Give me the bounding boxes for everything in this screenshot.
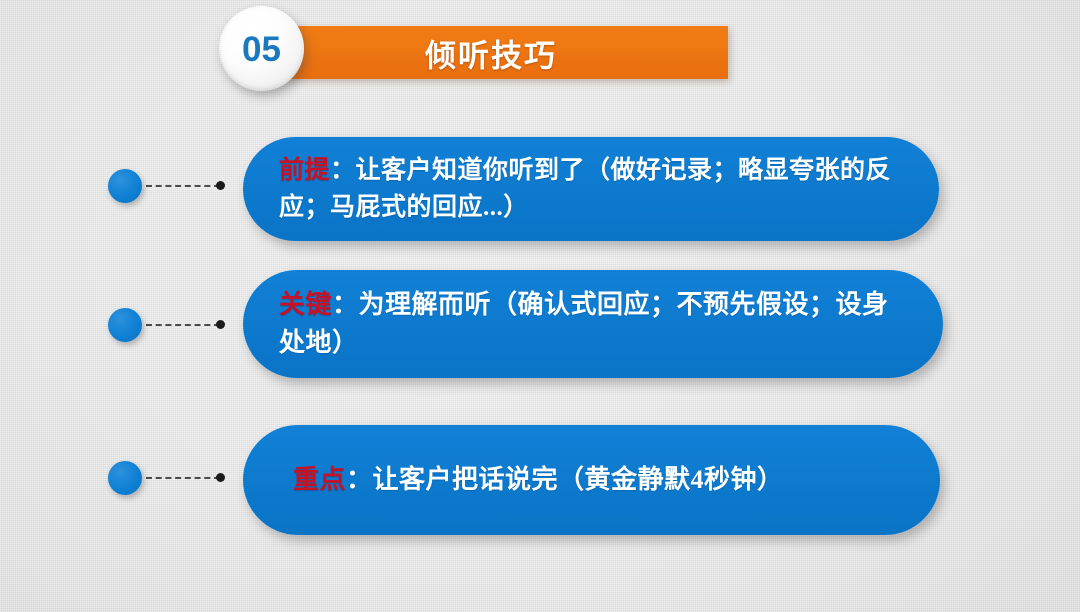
connector-node-icon xyxy=(216,181,225,190)
connector-dashed-line xyxy=(146,185,220,187)
connector-dashed-line xyxy=(146,324,220,326)
connector-dashed-line xyxy=(146,477,220,479)
content-pill-lead: 前提 xyxy=(279,157,330,184)
section-title-text: 倾听技巧 xyxy=(258,30,728,75)
content-pill: 重点：让客户把话说完（黄金静默4秒钟） xyxy=(243,425,940,535)
content-pill-body: ：为理解而听（确认式回应；不预先假设；设身处地） xyxy=(279,290,889,357)
content-pill-text: 关键：为理解而听（确认式回应；不预先假设；设身处地） xyxy=(279,286,913,363)
section-number-label: 05 xyxy=(242,32,281,67)
section-title-banner: 倾听技巧 xyxy=(258,26,728,79)
connector-node-icon xyxy=(216,473,225,482)
content-pill-body: ：让客户知道你听到了（做好记录；略显夸张的反应；马屁式的回应...） xyxy=(279,157,891,221)
slide-canvas: 倾听技巧 05 前提：让客户知道你听到了（做好记录；略显夸张的反应；马屁式的回应… xyxy=(0,0,1080,612)
content-row: 重点：让客户把话说完（黄金静默4秒钟） xyxy=(0,425,1080,535)
bullet-dot-icon xyxy=(108,461,142,495)
content-pill-text: 重点：让客户把话说完（黄金静默4秒钟） xyxy=(293,461,784,499)
content-row: 关键：为理解而听（确认式回应；不预先假设；设身处地） xyxy=(0,270,1080,378)
slide-header: 倾听技巧 05 xyxy=(0,0,1080,110)
content-row: 前提：让客户知道你听到了（做好记录；略显夸张的反应；马屁式的回应...） xyxy=(0,137,1080,241)
content-pill-lead: 关键 xyxy=(279,290,332,319)
content-pill-text: 前提：让客户知道你听到了（做好记录；略显夸张的反应；马屁式的回应...） xyxy=(279,152,895,226)
content-pill: 关键：为理解而听（确认式回应；不预先假设；设身处地） xyxy=(243,270,943,378)
bullet-dot-icon xyxy=(108,308,142,342)
section-number-badge: 05 xyxy=(219,6,304,91)
content-pill-body: ：让客户把话说完（黄金静默4秒钟） xyxy=(346,465,784,494)
content-pill-lead: 重点 xyxy=(293,465,346,494)
content-pill: 前提：让客户知道你听到了（做好记录；略显夸张的反应；马屁式的回应...） xyxy=(243,137,939,241)
connector-node-icon xyxy=(216,320,225,329)
bullet-dot-icon xyxy=(108,169,142,203)
